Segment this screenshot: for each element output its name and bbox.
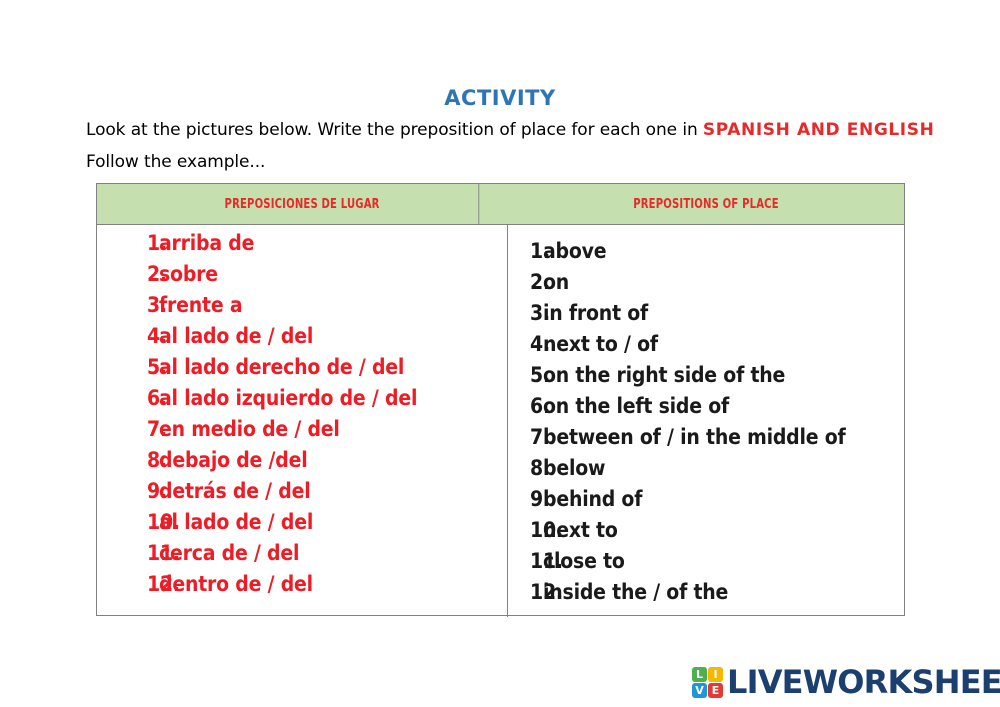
list-item-number: 8. — [97, 448, 159, 472]
list-item: 2.on — [508, 270, 904, 301]
list-item-label: on the right side of the — [543, 363, 785, 387]
list-item-label: al lado de / del — [159, 510, 313, 534]
list-item: 11.close to — [508, 549, 904, 580]
list-item-number: 5. — [508, 363, 543, 387]
instruction-line-2: Follow the example... — [86, 152, 265, 172]
list-item: 6.on the left side of — [508, 394, 904, 425]
table-body-row: 1.arriba de 2.sobre 3.frente a 4.al lado… — [97, 225, 904, 617]
logo-tile-l: L — [692, 667, 707, 682]
list-item: 6.al lado izquierdo de / del — [97, 386, 507, 417]
list-item: 9.behind of — [508, 487, 904, 518]
list-item-number: 9. — [97, 479, 159, 503]
list-item-number: 6. — [508, 394, 543, 418]
list-item-number: 12. — [97, 572, 159, 596]
list-item-label: cerca de / del — [159, 541, 299, 565]
list-item: 7.between of / in the middle of — [508, 425, 904, 456]
list-item-number: 6. — [97, 386, 159, 410]
table-header-row: PREPOSICIONES DE LUGAR PREPOSITIONS OF P… — [97, 184, 904, 225]
list-item-label: below — [543, 456, 605, 480]
list-item-label: next to / of — [543, 332, 658, 356]
list-item-label: sobre — [159, 262, 218, 286]
list-item: 4.next to / of — [508, 332, 904, 363]
list-item-label: detrás de / del — [159, 479, 310, 503]
list-item-label: between of / in the middle of — [543, 425, 846, 449]
list-item-label: inside the / of the — [543, 580, 728, 604]
list-item-number: 11. — [97, 541, 159, 565]
list-item: 4.al lado de / del — [97, 324, 507, 355]
instruction-highlight: SPANISH AND ENGLISH — [703, 120, 934, 140]
list-item: 5.on the right side of the — [508, 363, 904, 394]
list-item-label: behind of — [543, 487, 642, 511]
list-item-number: 4. — [508, 332, 543, 356]
logo-wordmark: LIVEWORKSHEETS — [727, 663, 1000, 701]
list-item-label: arriba de — [159, 231, 254, 255]
list-item-label: close to — [543, 549, 625, 573]
list-item: 7.en medio de / del — [97, 417, 507, 448]
list-item-number: 1. — [97, 231, 159, 255]
list-item-number: 7. — [508, 425, 543, 449]
list-item-label: al lado izquierdo de / del — [159, 386, 417, 410]
list-item-label: on — [543, 270, 569, 294]
list-item-number: 10. — [508, 518, 543, 542]
list-item-number: 3. — [508, 301, 543, 325]
list-item-label: al lado de / del — [159, 324, 313, 348]
list-item-label: al lado derecho de / del — [159, 355, 404, 379]
list-item: 10.al lado de / del — [97, 510, 507, 541]
list-item-number: 8. — [508, 456, 543, 480]
list-item: 10.next to — [508, 518, 904, 549]
list-item-number: 5. — [97, 355, 159, 379]
list-item: 8.debajo de /del — [97, 448, 507, 479]
list-item-number: 10. — [97, 510, 159, 534]
logo-tile-e: E — [708, 683, 723, 698]
list-item-label: on the left side of — [543, 394, 729, 418]
list-item-number: 4. — [97, 324, 159, 348]
list-item: 11.cerca de / del — [97, 541, 507, 572]
list-item-number: 7. — [97, 417, 159, 441]
list-item: 1.above — [508, 239, 904, 270]
logo-tiles-icon: L I V E — [692, 667, 723, 698]
prepositions-table: PREPOSICIONES DE LUGAR PREPOSITIONS OF P… — [96, 183, 905, 616]
list-item: 2.sobre — [97, 262, 507, 293]
list-item: 12.dentro de / del — [97, 572, 507, 603]
list-item: 12.inside the / of the — [508, 580, 904, 611]
logo-tile-v: V — [692, 683, 707, 698]
list-item-number: 12. — [508, 580, 543, 604]
list-item: 8.below — [508, 456, 904, 487]
list-item-number: 1. — [508, 239, 543, 263]
list-item-label: frente a — [159, 293, 242, 317]
list-item-number: 2. — [97, 262, 159, 286]
list-item-label: next to — [543, 518, 618, 542]
list-item: 9.detrás de / del — [97, 479, 507, 510]
list-item-number: 2. — [508, 270, 543, 294]
list-item-label: debajo de /del — [159, 448, 307, 472]
list-item-label: en medio de / del — [159, 417, 340, 441]
column-header-english: PREPOSITIONS OF PLACE — [536, 184, 877, 224]
page-title: ACTIVITY — [0, 86, 1000, 110]
list-item-number: 9. — [508, 487, 543, 511]
list-item-label: in front of — [543, 301, 648, 325]
spanish-list: 1.arriba de 2.sobre 3.frente a 4.al lado… — [97, 225, 508, 617]
list-item-label: dentro de / del — [159, 572, 313, 596]
instruction-line-1: Look at the pictures below. Write the pr… — [86, 120, 934, 140]
list-item-number: 11. — [508, 549, 543, 573]
english-list: 1.above 2.on 3.in front of 4.next to / o… — [508, 225, 904, 617]
list-item-number: 3. — [97, 293, 159, 317]
liveworksheets-logo: L I V E LIVEWORKSHEETS — [692, 663, 1000, 701]
column-header-spanish: PREPOSICIONES DE LUGAR — [126, 184, 479, 224]
list-item-label: above — [543, 239, 606, 263]
logo-tile-i: I — [708, 667, 723, 682]
list-item: 3.in front of — [508, 301, 904, 332]
list-item: 5.al lado derecho de / del — [97, 355, 507, 386]
instruction-text: Look at the pictures below. Write the pr… — [86, 120, 703, 140]
list-item: 3.frente a — [97, 293, 507, 324]
list-item: 1.arriba de — [97, 231, 507, 262]
